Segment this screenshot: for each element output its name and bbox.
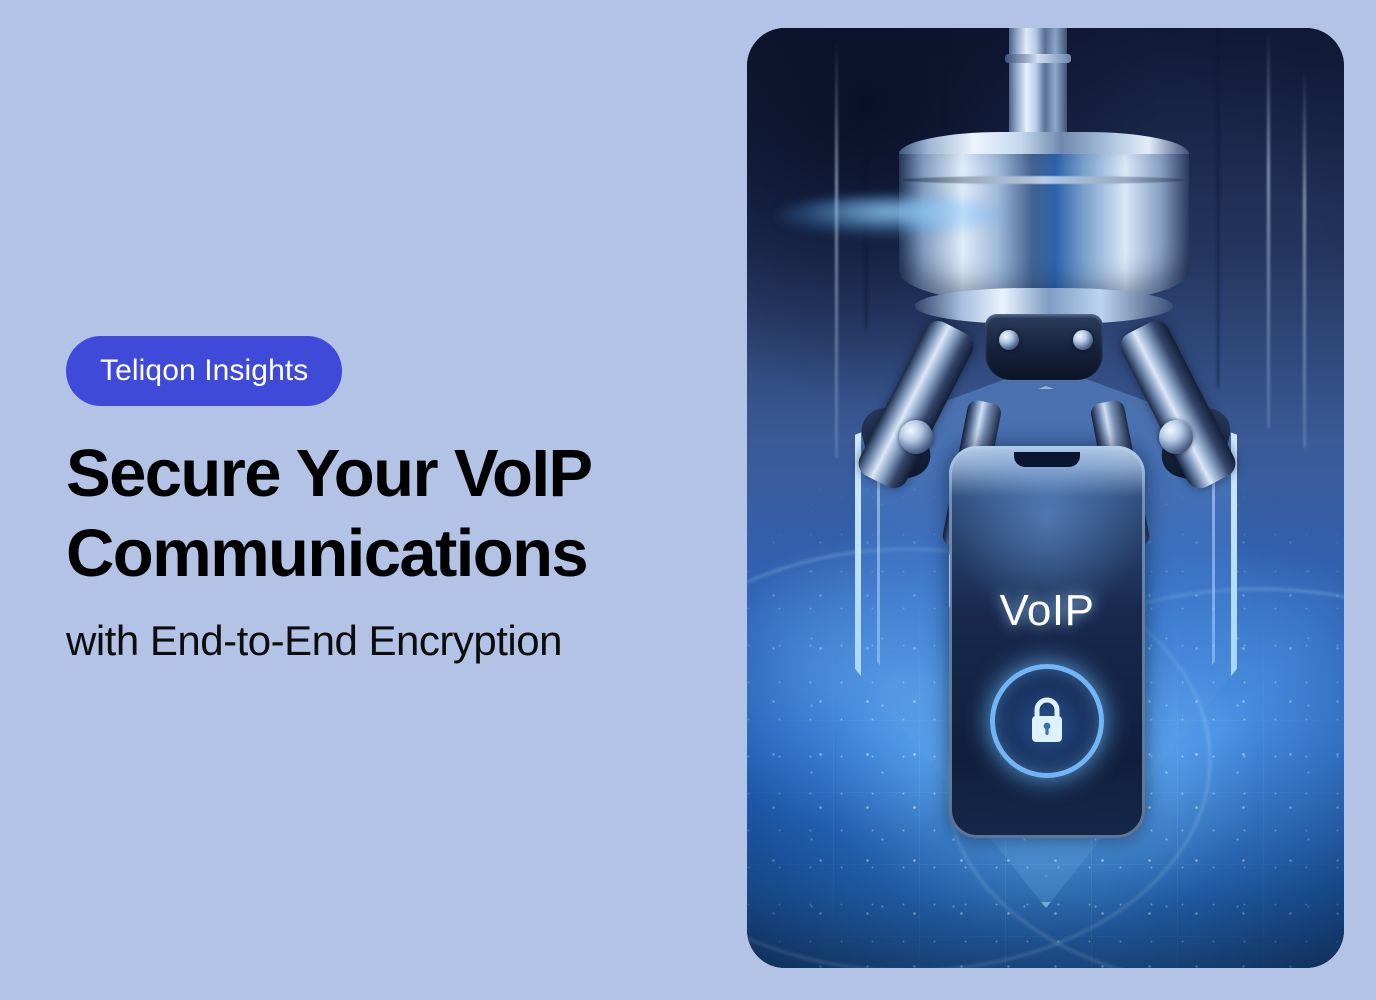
page-subtitle: with End-to-End Encryption (66, 616, 726, 666)
hero-image: VoIP (747, 28, 1344, 968)
eyebrow-badge[interactable]: Teliqon Insights (66, 336, 342, 406)
page-title: Secure Your VoIP Communications (66, 434, 716, 594)
image-vignette (747, 28, 1344, 968)
text-column: Teliqon Insights Secure Your VoIP Commun… (66, 336, 726, 666)
promo-banner: Teliqon Insights Secure Your VoIP Commun… (0, 0, 1376, 1000)
